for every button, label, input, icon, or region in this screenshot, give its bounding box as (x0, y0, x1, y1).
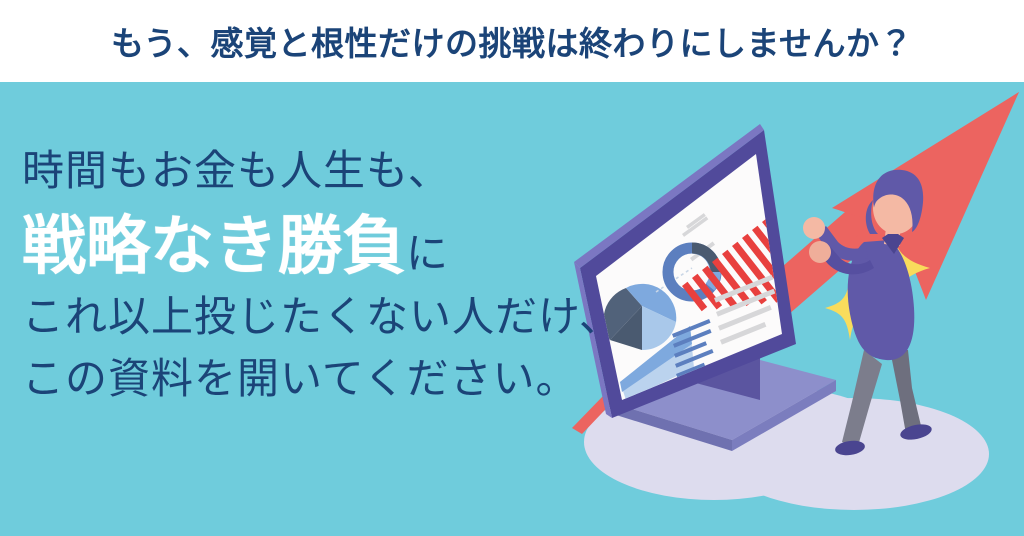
banner-headline: もう、感覚と根性だけの挑戦は終わりにしませんか？ (111, 27, 913, 60)
copy-line-3: これ以上投じたくない人だけ、 (22, 296, 622, 338)
headline-copy: 時間もお金も人生も、 戦略なき勝負に これ以上投じたくない人だけ、 この資料を開… (22, 150, 622, 400)
copy-line-2: 戦略なき勝負に (22, 214, 622, 278)
hero-banner: もう、感覚と根性だけの挑戦は終わりにしませんか？ (0, 0, 1024, 536)
copy-line-1: 時間もお金も人生も、 (22, 150, 622, 192)
copy-emphasis-suffix: に (406, 230, 449, 277)
top-banner: もう、感覚と根性だけの挑戦は終わりにしませんか？ (0, 0, 1024, 82)
main-panel: 時間もお金も人生も、 戦略なき勝負に これ以上投じたくない人だけ、 この資料を開… (0, 82, 1024, 536)
hero-illustration (564, 82, 1024, 536)
copy-emphasis: 戦略なき勝負 (22, 210, 406, 282)
copy-line-4: この資料を開いてください。 (22, 358, 622, 400)
